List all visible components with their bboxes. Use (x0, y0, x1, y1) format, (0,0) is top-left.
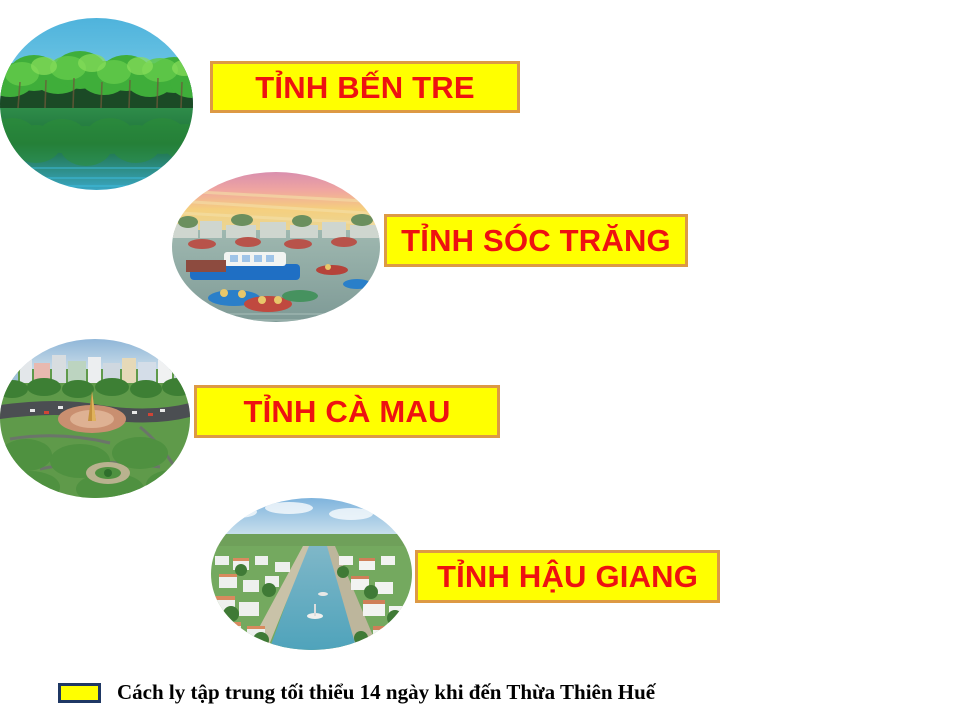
soc-trang-floating-market-photo (172, 172, 380, 322)
province-label-soc-trang[interactable]: TỈNH SÓC TRĂNG (384, 214, 688, 267)
legend: Cách ly tập trung tối thiểu 14 ngày khi … (58, 682, 655, 703)
ben-tre-coconut-river-photo (0, 18, 193, 190)
province-label-text: TỈNH SÓC TRĂNG (401, 225, 671, 256)
province-label-text: TỈNH BẾN TRE (255, 72, 474, 103)
legend-caption-text: Cách ly tập trung tối thiểu 14 ngày khi … (117, 682, 655, 703)
province-label-text: TỈNH CÀ MAU (243, 396, 450, 427)
hau-giang-canal-town-photo (211, 498, 412, 650)
province-label-hau-giang[interactable]: TỈNH HẬU GIANG (415, 550, 720, 603)
legend-color-swatch (58, 683, 101, 703)
province-label-ca-mau[interactable]: TỈNH CÀ MAU (194, 385, 500, 438)
slide-canvas: TỈNH BẾN TRE (0, 0, 960, 720)
ca-mau-city-park-photo (0, 339, 190, 498)
province-label-ben-tre[interactable]: TỈNH BẾN TRE (210, 61, 520, 113)
province-label-text: TỈNH HẬU GIANG (437, 561, 698, 592)
